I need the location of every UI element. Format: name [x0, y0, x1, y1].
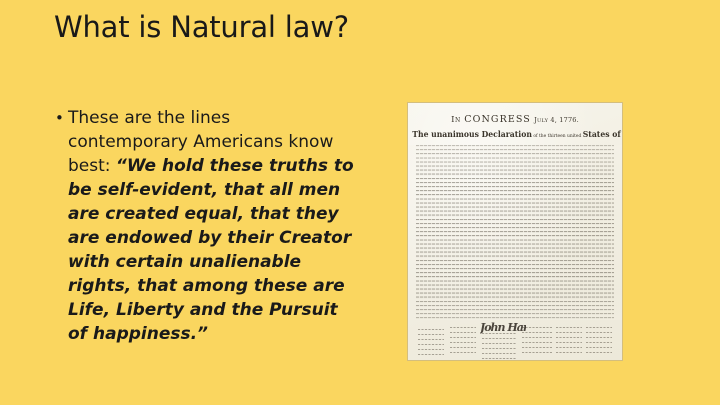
subheading-of-the-thirteen: of the thirteen united [532, 134, 583, 139]
document-heading-congress: CONGRESS [464, 114, 531, 125]
presentation-slide: What is Natural law? •These are the line… [0, 0, 720, 405]
declaration-of-independence-image: In CONGRESS July 4, 1776. The unanimous … [408, 103, 622, 360]
subheading-states: States of America [583, 129, 622, 139]
document-subheading: The unanimous Declaration of the thirtee… [412, 129, 617, 139]
signature-group [450, 327, 476, 357]
bullet-quote-text: “We hold these truths to be self-evident… [68, 156, 354, 344]
john-hancock-signature: John Hancock [480, 321, 526, 336]
list-item: •These are the lines contemporary Americ… [54, 106, 354, 346]
subheading-the: The unanimous [412, 129, 481, 139]
document-body-text [416, 145, 614, 320]
document-heading-date: July 4, 1776. [534, 116, 579, 124]
subheading-declaration: Declaration [482, 129, 532, 139]
document-heading: In CONGRESS July 4, 1776. [408, 114, 622, 125]
signature-group [482, 333, 516, 360]
document-signature-block: John Hancock [418, 325, 612, 359]
signature-group [418, 329, 444, 359]
signature-group [586, 327, 612, 357]
signature-group [522, 327, 552, 357]
bullet-icon: • [55, 106, 64, 130]
body-content-block: •These are the lines contemporary Americ… [54, 106, 354, 346]
page-title: What is Natural law? [54, 8, 654, 46]
signature-group [556, 327, 582, 357]
document-heading-in: In [451, 115, 461, 125]
